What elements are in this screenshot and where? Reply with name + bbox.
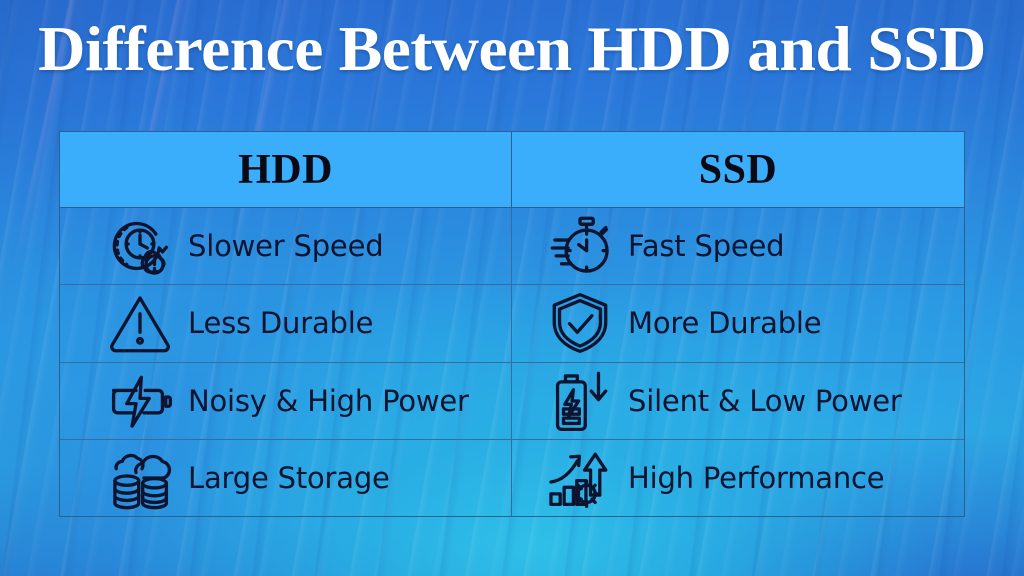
- cell-ssd-durability: More Durable: [512, 285, 964, 361]
- shield-check-icon: [542, 290, 618, 356]
- cell-hdd-speed: Slower Speed: [60, 208, 512, 284]
- battery-low-power-icon: [542, 368, 618, 434]
- warning-triangle-icon: [102, 290, 178, 356]
- cell-ssd-speed: Fast Speed: [512, 208, 964, 284]
- cloud-database-icon: [102, 445, 178, 511]
- cell-hdd-durability: Less Durable: [60, 285, 512, 361]
- column-header-ssd: SSD: [512, 132, 964, 207]
- growth-chart-gear-icon: [542, 445, 618, 511]
- cell-label: Large Storage: [188, 461, 390, 495]
- cell-ssd-performance: High Performance: [512, 440, 964, 516]
- cell-label: Slower Speed: [188, 229, 383, 263]
- stopwatch-speed-icon: [542, 213, 618, 279]
- table-row: Large Storage: [60, 440, 964, 516]
- comparison-table: HDD SSD: [59, 131, 965, 517]
- cell-label: Less Durable: [188, 306, 373, 340]
- cell-label: More Durable: [628, 306, 821, 340]
- cell-label: Noisy & High Power: [188, 384, 469, 418]
- cell-label: High Performance: [628, 461, 884, 495]
- cell-hdd-storage: Large Storage: [60, 440, 512, 516]
- slow-clock-alert-icon: [102, 213, 178, 279]
- column-header-hdd: HDD: [60, 132, 512, 207]
- slide-canvas: Difference Between HDD and SSD HDD SSD: [0, 0, 1024, 576]
- table-row: Slower Speed Fast S: [60, 208, 964, 285]
- page-title: Difference Between HDD and SSD: [0, 16, 1024, 82]
- table-body: Slower Speed Fast S: [60, 208, 964, 516]
- table-row: Less Durable More Durable: [60, 285, 964, 362]
- cell-label: Silent & Low Power: [628, 384, 902, 418]
- cell-hdd-power: Noisy & High Power: [60, 363, 512, 439]
- table-header-row: HDD SSD: [60, 132, 964, 208]
- cell-label: Fast Speed: [628, 229, 784, 263]
- table-row: Noisy & High Power Silent & Low Po: [60, 363, 964, 440]
- battery-bolt-horizontal-icon: [102, 368, 178, 434]
- cell-ssd-power: Silent & Low Power: [512, 363, 964, 439]
